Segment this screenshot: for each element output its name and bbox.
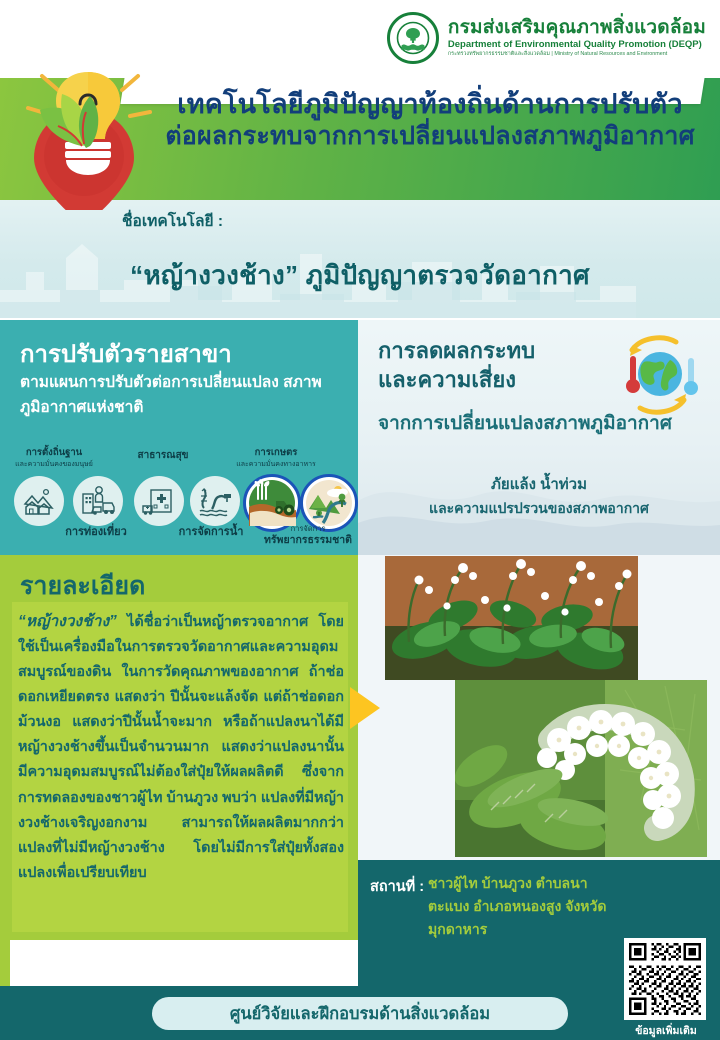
risk-line-1: ภัยแล้ง น้ำท่วม (358, 472, 720, 496)
risk-line-2: และความแปรปรวนของสภาพอากาศ (358, 498, 720, 520)
qr-code-icon[interactable] (624, 938, 706, 1020)
details-text: ได้ชื่อว่าเป็นหญ้าตรวจอากาศ โดยใช้เป็นเค… (18, 614, 344, 881)
sector-label-agriculture-sub: และความมั่นคงทางอาหาร (236, 461, 316, 468)
title-line-1: เทคโนโลยีภูมิปัญญาท้องถิ่นด้านการปรับตัว (150, 88, 710, 121)
technology-label: ชื่อเทคโนโลยี : (122, 208, 223, 233)
qr-caption: ข้อมูลเพิ่มเติม (618, 1022, 714, 1039)
footer-pill: ศูนย์วิจัยและฝึกอบรมด้านสิ่งแวดล้อม (152, 997, 568, 1030)
location-label: สถานที่ : (370, 875, 424, 898)
tourism-city-car-icon[interactable] (73, 476, 123, 526)
logo-text-group: กรมส่งเสริมคุณภาพสิ่งแวดล้อม Department … (448, 18, 706, 58)
public-health-hospital-icon[interactable] (134, 476, 184, 526)
technology-name: “หญ้างวงช้าง” ภูมิปัญญาตรวจวัดอากาศ (0, 255, 720, 296)
globe-thermometer-icon (610, 334, 706, 418)
details-body: “หญ้างวงช้าง” ได้ชื่อว่าเป็นหญ้าตรวจอากา… (18, 608, 344, 886)
water-management-tap-icon[interactable] (190, 476, 240, 526)
location-value: ชาวผู้ไท บ้านภูวง ตำบลนาตะแบง อำเภอหนองส… (428, 872, 618, 941)
sector-label-agriculture: การเกษตร และความมั่นคงทางอาหาร (228, 448, 324, 470)
ministry-line: กระทรวงทรัพยากรธรรมชาติและสิ่งแวดล้อม | … (448, 52, 706, 58)
poster-root: กรมส่งเสริมคุณภาพสิ่งแวดล้อม Department … (0, 0, 720, 1040)
settlement-houses-icon[interactable] (14, 476, 64, 526)
lightbulb-leaf-map-pin-icon (18, 50, 158, 210)
org-name-en: Department of Environmental Quality Prom… (448, 40, 706, 50)
org-name-th: กรมส่งเสริมคุณภาพสิ่งแวดล้อม (448, 18, 706, 39)
left-green-strip (0, 555, 10, 986)
sector-label-nr-1: การจัดการ (291, 524, 326, 533)
sector-label-water: การจัดการน้ำ (165, 526, 257, 539)
adaptation-heading: การปรับตัวรายสาขา (20, 334, 232, 373)
sector-label-settlement: การตั้งถิ่นฐาน และความมั่นคงของมนุษย์ (6, 448, 102, 470)
tree-water-circle-icon (387, 12, 439, 64)
sector-label-natural-resources: การจัดการ ทรัพยากรธรรมชาติ (258, 522, 358, 546)
sector-icon-strip: การตั้งถิ่นฐาน และความมั่นคงของมนุษย์ สา… (0, 448, 358, 555)
mitigation-heading: การลดผลกระทบ และความเสี่ยง (378, 336, 535, 394)
heliotropium-plant-photo (385, 556, 638, 680)
sector-label-agriculture-top: การเกษตร (255, 447, 298, 458)
adaptation-subheading: ตามแผนการปรับตัวต่อการเปลี่ยนแปลง สภาพภู… (20, 370, 340, 420)
sector-label-settlement-top: การตั้งถิ่นฐาน (26, 447, 82, 458)
right-arrow-icon (350, 685, 384, 731)
mitigation-heading-line2: และความเสี่ยง (378, 367, 516, 392)
mitigation-panel: การลดผลกระทบ และความเสี่ยง จากการเปลี่ยน… (358, 320, 720, 555)
sector-label-nr-2: ทรัพยากรธรรมชาติ (264, 534, 352, 546)
heliotropium-flower-closeup-photo (455, 680, 707, 857)
deqp-logo-block: กรมส่งเสริมคุณภาพสิ่งแวดล้อม Department … (387, 12, 706, 64)
details-lead: “หญ้างวงช้าง” (18, 613, 117, 630)
details-heading: รายละเอียด (20, 566, 145, 606)
page-title: เทคโนโลยีภูมิปัญญาท้องถิ่นด้านการปรับตัว… (150, 88, 710, 151)
sector-label-settlement-sub: และความมั่นคงของมนุษย์ (15, 461, 93, 468)
mitigation-heading-line1: การลดผลกระทบ (378, 338, 535, 363)
sector-label-public-health: สาธารณสุข (123, 450, 203, 462)
footer-text: ศูนย์วิจัยและฝึกอบรมด้านสิ่งแวดล้อม (230, 1001, 490, 1027)
sector-label-tourism: การท่องเที่ยว (50, 526, 142, 539)
title-line-2: ต่อผลกระทบจากการเปลี่ยนแปลงสภาพภูมิอากาศ (150, 121, 710, 152)
